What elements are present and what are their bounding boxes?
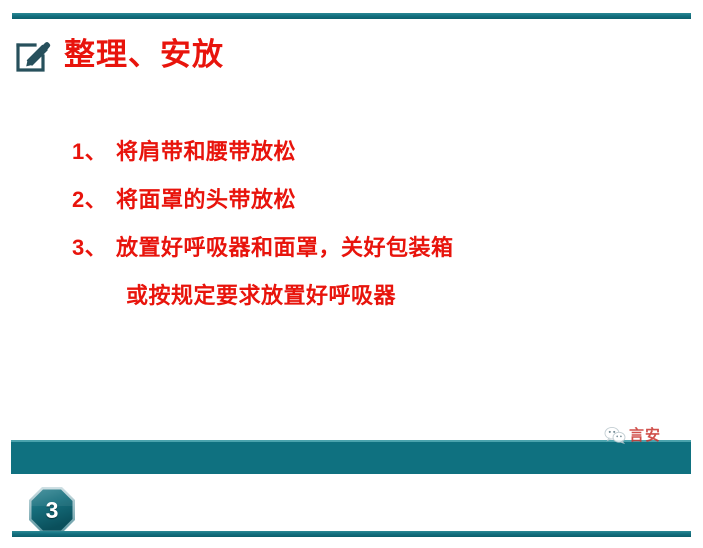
list-item-number: 1、 — [72, 128, 116, 176]
list-item-text: 将肩带和腰带放松 — [116, 139, 296, 164]
list-item-text: 放置好呼吸器和面罩，关好包装箱 — [116, 235, 454, 260]
pen-edit-icon — [14, 36, 52, 74]
slide-canvas: 整理、安放 1、将肩带和腰带放松 2、将面罩的头带放松 3、放置好呼吸器和面罩，… — [0, 0, 703, 548]
list-item-text: 将面罩的头带放松 — [116, 187, 296, 212]
wechat-icon — [604, 426, 626, 445]
watermark-label: 言安 — [629, 427, 661, 445]
top-divider-rule — [12, 13, 691, 19]
page-number-text: 3 — [28, 486, 76, 534]
slide-title-row: 整理、安放 — [14, 36, 224, 74]
ghost-bottom-text — [30, 539, 650, 547]
page-title: 整理、安放 — [64, 38, 224, 72]
bottom-divider-rule — [12, 531, 691, 537]
list-item-continuation: 或按规定要求放置好呼吸器 — [72, 272, 632, 320]
slide-body-list: 1、将肩带和腰带放松 2、将面罩的头带放松 3、放置好呼吸器和面罩，关好包装箱 … — [72, 128, 632, 320]
list-item: 1、将肩带和腰带放松 — [72, 128, 632, 176]
bottom-accent-band — [11, 440, 691, 474]
watermark: 言安 — [604, 426, 661, 445]
list-item: 2、将面罩的头带放松 — [72, 176, 632, 224]
page-number-badge: 3 — [28, 486, 76, 534]
list-item-number: 2、 — [72, 176, 116, 224]
list-item-number: 3、 — [72, 224, 116, 272]
list-item: 3、放置好呼吸器和面罩，关好包装箱 — [72, 224, 632, 272]
ghost-top-text — [25, 0, 355, 11]
